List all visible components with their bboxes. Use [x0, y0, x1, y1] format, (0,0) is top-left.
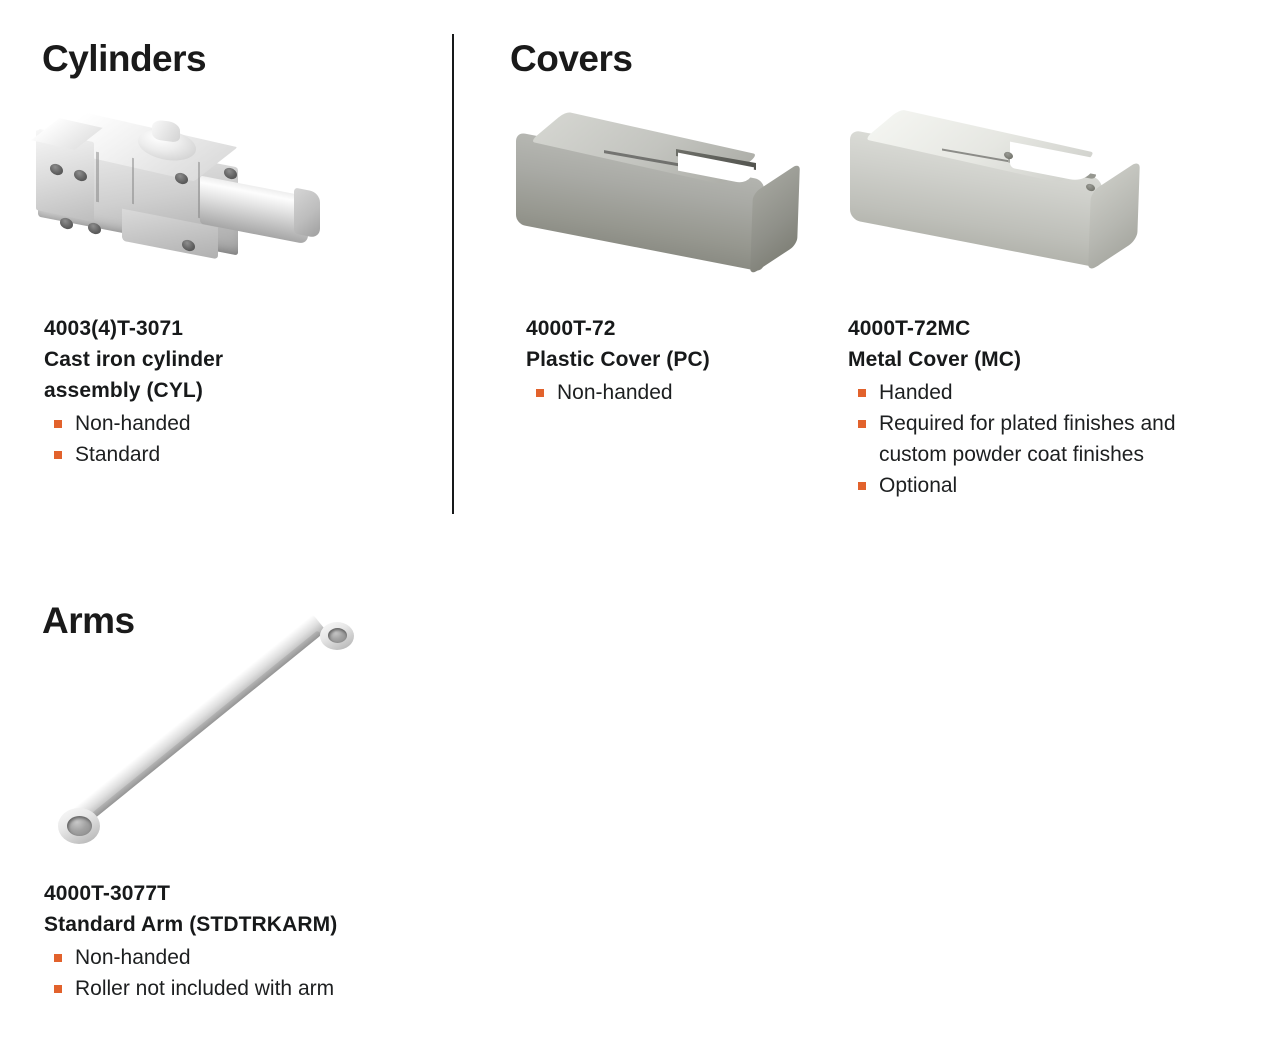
square-bullet-icon [536, 389, 544, 397]
cylinder-rod-end-cap [294, 187, 320, 238]
cylinder-rib [132, 158, 134, 204]
feature-list: Handed Required for plated finishes and … [848, 377, 1248, 501]
list-item-label: Non-handed [557, 381, 673, 404]
square-bullet-icon [858, 482, 866, 490]
arm-bar-bottom-edge [64, 630, 321, 840]
part-name: Plastic Cover (PC) [526, 344, 826, 375]
part-number: 4000T-72 [526, 313, 826, 344]
list-item: Non-handed [44, 408, 424, 439]
list-item: Non-handed [44, 942, 464, 973]
list-item-label: Optional [879, 474, 957, 497]
list-item: Optional [848, 470, 1248, 501]
part-name: Standard Arm (STDTRKARM) [44, 909, 464, 940]
part-name: Cast iron cylinder assembly (CYL) [44, 344, 284, 406]
list-item-label: Handed [879, 381, 953, 404]
cylinder-rib [96, 152, 99, 203]
part-number: 4003(4)T-3071 [44, 313, 424, 344]
list-item: Required for plated finishes and custom … [848, 408, 1248, 470]
arm-bar [56, 614, 325, 837]
feature-list: Non-handed Standard [44, 408, 424, 470]
list-item: Standard [44, 439, 424, 470]
product-metal-cover: 4000T-72MC Metal Cover (MC) Handed Requi… [848, 313, 1248, 501]
standard-arm-render [44, 620, 344, 850]
product-standard-arm: 4000T-3077T Standard Arm (STDTRKARM) Non… [44, 878, 464, 1004]
list-item-label: Non-handed [75, 946, 191, 969]
arm-lower-pivot-hole [67, 816, 92, 836]
feature-list: Non-handed [526, 377, 826, 408]
metal-cover-render [842, 122, 1142, 282]
part-name: Metal Cover (MC) [848, 344, 1248, 375]
square-bullet-icon [54, 954, 62, 962]
cylinder-assembly-render [32, 118, 332, 273]
metal-cover-right-face [1088, 160, 1140, 272]
list-item-label: Required for plated finishes and custom … [879, 412, 1176, 466]
square-bullet-icon [54, 985, 62, 993]
part-number: 4000T-3077T [44, 878, 464, 909]
product-catalog-page: Cylinders 4003(4)T-3071 Cast iron cylind… [0, 0, 1280, 1043]
product-cylinder-assembly: 4003(4)T-3071 Cast iron cylinder assembl… [44, 313, 424, 470]
column-divider [452, 34, 454, 514]
square-bullet-icon [858, 389, 866, 397]
feature-list: Non-handed Roller not included with arm [44, 942, 464, 1004]
list-item-label: Roller not included with arm [75, 977, 334, 1000]
arm-upper-pivot-hole [328, 628, 347, 643]
list-item: Handed [848, 377, 1248, 408]
product-plastic-cover: 4000T-72 Plastic Cover (PC) Non-handed [526, 313, 826, 408]
square-bullet-icon [858, 420, 866, 428]
list-item-label: Standard [75, 443, 160, 466]
part-number: 4000T-72MC [848, 313, 1248, 344]
list-item: Non-handed [526, 377, 826, 408]
plastic-cover-render [508, 126, 798, 286]
list-item: Roller not included with arm [44, 973, 464, 1004]
list-item-label: Non-handed [75, 412, 191, 435]
section-heading-covers: Covers [510, 38, 632, 80]
cylinder-rib [198, 162, 200, 218]
square-bullet-icon [54, 451, 62, 459]
section-heading-cylinders: Cylinders [42, 38, 206, 80]
square-bullet-icon [54, 420, 62, 428]
